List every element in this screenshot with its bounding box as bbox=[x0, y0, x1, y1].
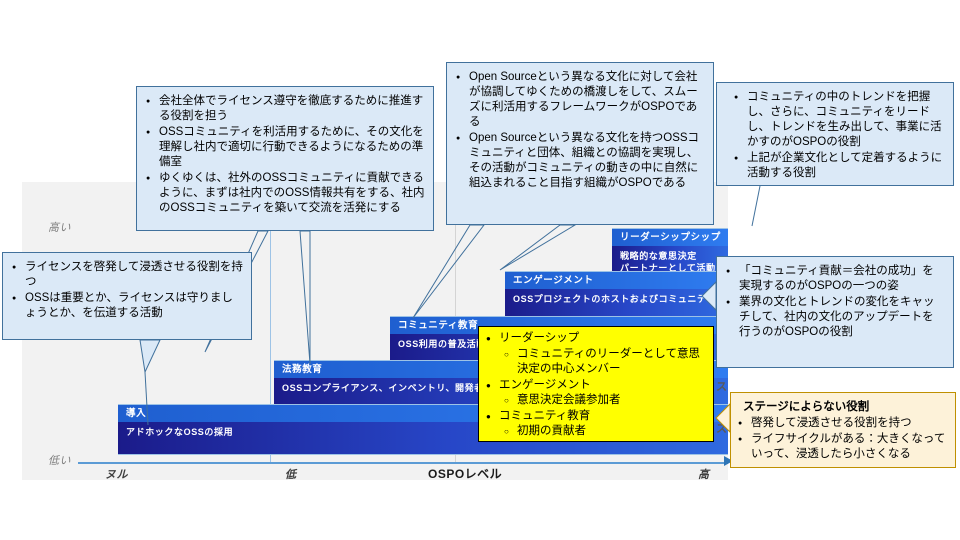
bullet: ゆくゆくは、社外のOSSコミュニティに貢献できるように、まずは社内でのOSS情報… bbox=[159, 171, 425, 216]
callout-top-middle-list: Open Sourceという異なる文化に対して会社が協調してゆくための橋渡しをし… bbox=[447, 70, 713, 191]
x-tick-null: ヌル bbox=[105, 466, 128, 482]
yellow-sticky-note: リーダーシップ コミュニティのリーダーとして意思決定の中心メンバー エンゲージメ… bbox=[478, 326, 714, 442]
callout-stage-independent: ステージによらない役割 啓発して浸透させる役割を持つ ライフサイクルがある：大き… bbox=[730, 392, 956, 468]
callout-top-middle: Open Sourceという異なる文化に対して会社が協調してゆくための橋渡しをし… bbox=[446, 62, 714, 225]
bar-engagement-line1: OSSプロジェクトのホストおよびコミュニティの育成 bbox=[513, 293, 728, 305]
x-axis-title: OSPOレベル bbox=[428, 465, 502, 482]
yellow-note-item: 初期の貢献者 bbox=[499, 424, 709, 440]
bar-leadership-line1: 戦略的な意思決定 bbox=[620, 250, 728, 262]
slide-canvas: 高い 低い ヌル 低 高 OSPOレベル リーダーシップシップ 戦略的な意思決定… bbox=[0, 0, 960, 540]
bullet: 「コミュニティ貢献＝会社の成功」を実現するのがOSPOの一つの姿 bbox=[739, 264, 945, 294]
side-label-fragment-2: ス bbox=[716, 420, 728, 436]
callout-top-right: コミュニティの中のトレンドを把握し、さらに、コミュニティをリードし、トレンドを生… bbox=[716, 82, 954, 186]
bullet: 会社全体でライセンス遵守を徹底するために推進する役割を担う bbox=[159, 94, 425, 124]
bullet: ライセンスを啓発して浸透させる役割を持つ bbox=[25, 260, 243, 290]
x-tick-high: 高 bbox=[698, 466, 710, 482]
callout-right: 「コミュニティ貢献＝会社の成功」を実現するのがOSPOの一つの姿 業界の文化とト… bbox=[716, 256, 954, 368]
yellow-note-item: コミュニティのリーダーとして意思決定の中心メンバー bbox=[499, 347, 709, 378]
bullet: ライフサイクルがある：大きくなっていって、浸透したら小さくなる bbox=[751, 432, 947, 462]
bar-engagement-header: エンゲージメント bbox=[505, 271, 728, 289]
bullet: コミュニティの中のトレンドを把握し、さらに、コミュニティをリードし、トレンドを生… bbox=[747, 90, 945, 150]
bullet: 啓発して浸透させる役割を持つ bbox=[751, 416, 947, 431]
bullet: OSSは重要とか、ライセンスは守りましょうとか、を伝道する活動 bbox=[25, 291, 243, 321]
y-axis-label-low: 低い bbox=[48, 452, 71, 468]
callout-stage-independent-list: 啓発して浸透させる役割を持つ ライフサイクルがある：大きくなっていって、浸透した… bbox=[731, 416, 955, 462]
bullet: 上記が企業文化として定着するように活動する役割 bbox=[747, 151, 945, 181]
side-label-fragment-1: ス bbox=[716, 378, 728, 394]
callout-top-right-list: コミュニティの中のトレンドを把握し、さらに、コミュニティをリードし、トレンドを生… bbox=[717, 90, 953, 181]
callout-top-left-list: 会社全体でライセンス遵守を徹底するために推進する役割を担う OSSコミュニティを… bbox=[137, 94, 433, 216]
callout-right-list: 「コミュニティ貢献＝会社の成功」を実現するのがOSPOの一つの姿 業界の文化とト… bbox=[717, 264, 953, 340]
bar-engagement: エンゲージメント OSSプロジェクトのホストおよびコミュニティの育成 bbox=[505, 271, 728, 322]
callout-stage-independent-heading: ステージによらない役割 bbox=[731, 396, 955, 416]
bar-leadership-header: リーダーシップシップ bbox=[612, 228, 728, 246]
callout-left: ライセンスを啓発して浸透させる役割を持つ OSSは重要とか、ライセンスは守りまし… bbox=[2, 252, 252, 340]
callout-top-left: 会社全体でライセンス遵守を徹底するために推進する役割を担う OSSコミュニティを… bbox=[136, 86, 434, 231]
x-tick-low: 低 bbox=[285, 466, 297, 482]
x-axis-line bbox=[78, 462, 728, 464]
bullet: Open Sourceという異なる文化に対して会社が協調してゆくための橋渡しをし… bbox=[469, 70, 705, 130]
bullet: Open Sourceという異なる文化を持つOSSコミュニティと団体、組織との協… bbox=[469, 131, 705, 191]
yellow-note-item: リーダーシップ bbox=[499, 331, 709, 347]
bullet: 業界の文化とトレンドの変化をキャッチして、社内の文化のアップデートを行うのがOS… bbox=[739, 295, 945, 340]
callout-left-list: ライセンスを啓発して浸透させる役割を持つ OSSは重要とか、ライセンスは守りまし… bbox=[3, 260, 251, 321]
yellow-note-item: エンゲージメント bbox=[499, 378, 709, 394]
yellow-note-item: コミュニティ教育 bbox=[499, 409, 709, 425]
bullet: OSSコミュニティを利活用するために、その文化を理解し社内で適切に行動できるよう… bbox=[159, 125, 425, 170]
yellow-note-item: 意思決定会議参加者 bbox=[499, 393, 709, 409]
yellow-note-list: リーダーシップ コミュニティのリーダーとして意思決定の中心メンバー エンゲージメ… bbox=[479, 331, 713, 440]
y-axis-label-high: 高い bbox=[48, 219, 71, 235]
